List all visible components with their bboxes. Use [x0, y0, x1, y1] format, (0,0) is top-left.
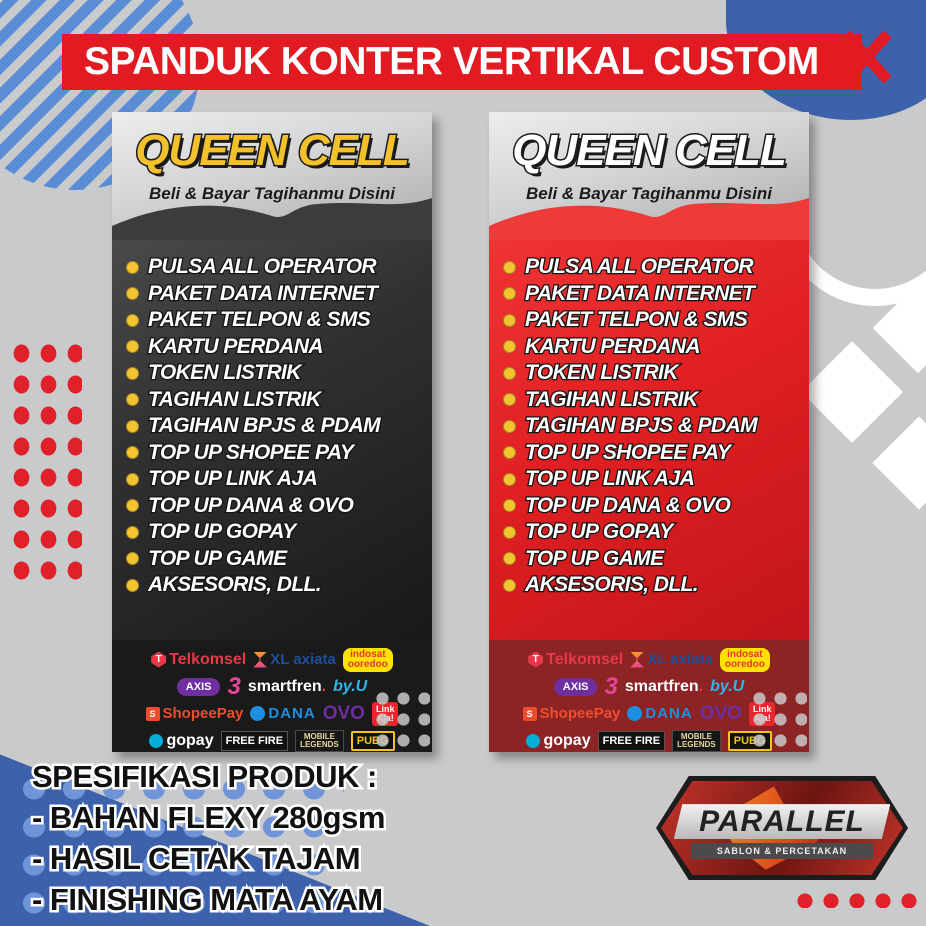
- service-list-item-label: TOKEN LISTRIK: [148, 361, 301, 385]
- service-list-item-label: PAKET DATA INTERNET: [525, 282, 754, 306]
- xl-mark-icon: [630, 652, 644, 668]
- service-list-item-label: PAKET TELPON & SMS: [148, 308, 370, 332]
- telkomsel-mark-icon: T: [151, 652, 166, 668]
- banner-wave-divider: [112, 196, 432, 242]
- bullet-icon: [503, 446, 516, 459]
- telkomsel-logo: TTelkomsel: [151, 651, 246, 669]
- watermark-subtitle: SABLON & PERCETAKAN: [717, 846, 847, 856]
- service-list-item-label: TOP UP LINK AJA: [148, 467, 317, 491]
- service-list-item: TAGIHAN BPJS & PDAM: [503, 413, 809, 440]
- operator-logo-row-1: TTelkomsel XL axiata indosatooredoo: [120, 646, 424, 673]
- bullet-icon: [126, 420, 139, 433]
- service-list-item: TOP UP GOPAY: [126, 519, 432, 546]
- gopay-mark-icon: [149, 734, 163, 748]
- dana-mark-icon: [627, 706, 642, 721]
- red-dot-row-decoration: [792, 888, 922, 908]
- xl-mark-icon: [253, 652, 267, 668]
- shopeepay-logo: SShopeePay: [146, 705, 244, 722]
- service-list-item: TOP UP LINK AJA: [126, 466, 432, 493]
- white-diamond-decoration: [872, 416, 926, 509]
- banner-header-red: QUEEN CELL Beli & Bayar Tagihanmu Disini: [489, 112, 809, 240]
- service-list-item: TOP UP GAME: [126, 546, 432, 573]
- bullet-icon: [126, 393, 139, 406]
- service-list-item-label: PAKET DATA INTERNET: [148, 282, 377, 306]
- bullet-icon: [503, 552, 516, 565]
- service-list-item-label: AKSESORIS, DLL.: [148, 573, 321, 597]
- service-list-item: TAGIHAN LISTRIK: [126, 387, 432, 414]
- bullet-icon: [126, 446, 139, 459]
- banner-service-list-red: PULSA ALL OPERATORPAKET DATA INTERNETPAK…: [489, 240, 809, 640]
- service-list-item: PAKET TELPON & SMS: [126, 307, 432, 334]
- tri-logo: 3: [604, 673, 617, 701]
- bullet-icon: [126, 287, 139, 300]
- bullet-icon: [126, 473, 139, 486]
- ovo-logo: OVO: [323, 703, 365, 725]
- byu-logo: by.U: [710, 678, 744, 696]
- gopay-logo: gopay: [149, 732, 213, 750]
- bullet-icon: [126, 314, 139, 327]
- free-fire-logo: FREE FIRE: [598, 731, 665, 751]
- banner-wave-divider: [489, 196, 809, 242]
- service-list-item: PULSA ALL OPERATOR: [126, 254, 432, 281]
- dana-logo: DANA: [627, 705, 692, 722]
- telkomsel-mark-icon: T: [528, 652, 543, 668]
- gopay-mark-icon: [526, 734, 540, 748]
- ovo-logo: OVO: [700, 703, 742, 725]
- banner-brand-red: QUEEN CELL: [489, 126, 809, 176]
- white-diamond-decoration: [873, 283, 926, 374]
- bullet-icon: [503, 473, 516, 486]
- bullet-icon: [126, 499, 139, 512]
- service-list-item: TOP UP DANA & OVO: [126, 493, 432, 520]
- service-list-item: TOP UP LINK AJA: [503, 466, 809, 493]
- indosat-ooredoo-logo: indosatooredoo: [720, 648, 770, 672]
- spec-item: - BAHAN FLEXY 280gsm: [32, 797, 502, 838]
- gopay-logo: gopay: [526, 732, 590, 750]
- service-list-item: AKSESORIS, DLL.: [126, 572, 432, 599]
- white-diamond-decoration: [801, 341, 903, 443]
- service-list-item: PAKET TELPON & SMS: [503, 307, 809, 334]
- service-list-item-label: TOP UP LINK AJA: [525, 467, 694, 491]
- watermark-name: PARALLEL: [699, 805, 865, 839]
- bullet-icon: [503, 579, 516, 592]
- service-list-item-label: TAGIHAN LISTRIK: [525, 388, 698, 412]
- indosat-ooredoo-logo: indosatooredoo: [343, 648, 393, 672]
- smartfren-logo: smartfren.: [248, 678, 326, 696]
- dana-logo: DANA: [250, 705, 315, 722]
- shopeepay-logo: SShopeePay: [523, 705, 621, 722]
- service-list-item: TOP UP GOPAY: [503, 519, 809, 546]
- xl-axiata-logo: XL axiata: [630, 651, 713, 668]
- logo-dot-pattern: [372, 688, 430, 750]
- poster-canvas: SPANDUK KONTER VERTIKAL CUSTOM QUEEN CEL…: [0, 0, 926, 926]
- byu-logo: by.U: [333, 678, 367, 696]
- poster-title-bar: SPANDUK KONTER VERTIKAL CUSTOM: [62, 34, 862, 90]
- spec-heading: SPESIFIKASI PRODUK :: [32, 756, 502, 797]
- page-title: SPANDUK KONTER VERTIKAL CUSTOM: [84, 40, 819, 84]
- shopeepay-mark-icon: S: [523, 707, 537, 721]
- service-list-item: TOKEN LISTRIK: [126, 360, 432, 387]
- bullet-icon: [126, 340, 139, 353]
- service-list-item: TOKEN LISTRIK: [503, 360, 809, 387]
- service-list-item: PAKET DATA INTERNET: [126, 281, 432, 308]
- telkomsel-logo: TTelkomsel: [528, 651, 623, 669]
- service-list-item-label: KARTU PERDANA: [525, 335, 700, 359]
- banner-preview-dark[interactable]: QUEEN CELL Beli & Bayar Tagihanmu Disini…: [112, 112, 432, 752]
- bullet-icon: [126, 552, 139, 565]
- service-list-item: TOP UP SHOPEE PAY: [126, 440, 432, 467]
- bullet-icon: [503, 420, 516, 433]
- service-list-item: TAGIHAN BPJS & PDAM: [126, 413, 432, 440]
- service-list-item: AKSESORIS, DLL.: [503, 572, 809, 599]
- service-list-item-label: TOKEN LISTRIK: [525, 361, 678, 385]
- service-list-item-label: TOP UP GOPAY: [525, 520, 673, 544]
- service-list-item-label: PAKET TELPON & SMS: [525, 308, 747, 332]
- service-list-item: TAGIHAN LISTRIK: [503, 387, 809, 414]
- xl-axiata-logo: XL axiata: [253, 651, 336, 668]
- mobile-legends-logo: MOBILELEGENDS: [672, 730, 721, 752]
- service-list-item-label: PULSA ALL OPERATOR: [148, 255, 376, 279]
- bullet-icon: [503, 499, 516, 512]
- free-fire-logo: FREE FIRE: [221, 731, 288, 751]
- dana-mark-icon: [250, 706, 265, 721]
- bullet-icon: [503, 526, 516, 539]
- banner-logos-red: TTelkomsel XL axiata indosatooredoo AXIS…: [489, 640, 809, 752]
- service-list-item-label: TOP UP DANA & OVO: [525, 494, 730, 518]
- service-list-item-label: TAGIHAN LISTRIK: [148, 388, 321, 412]
- shopeepay-mark-icon: S: [146, 707, 160, 721]
- service-list-item: PULSA ALL OPERATOR: [503, 254, 809, 281]
- spec-item: - HASIL CETAK TAJAM: [32, 838, 502, 879]
- bullet-icon: [503, 367, 516, 380]
- bullet-icon: [503, 287, 516, 300]
- banner-service-list-dark: PULSA ALL OPERATORPAKET DATA INTERNETPAK…: [112, 240, 432, 640]
- service-list-item-label: TOP UP DANA & OVO: [148, 494, 353, 518]
- service-list-item: TOP UP GAME: [503, 546, 809, 573]
- banner-header-dark: QUEEN CELL Beli & Bayar Tagihanmu Disini: [112, 112, 432, 240]
- logo-name-bar: PARALLEL: [674, 804, 891, 839]
- service-list-item-label: PULSA ALL OPERATOR: [525, 255, 753, 279]
- banner-logos-dark: TTelkomsel XL axiata indosatooredoo AXIS…: [112, 640, 432, 752]
- smartfren-logo: smartfren.: [625, 678, 703, 696]
- tri-logo: 3: [227, 673, 240, 701]
- mobile-legends-logo: MOBILELEGENDS: [295, 730, 344, 752]
- service-list-item-label: TOP UP GOPAY: [148, 520, 296, 544]
- bullet-icon: [126, 261, 139, 274]
- service-list-item-label: TOP UP GAME: [525, 547, 663, 571]
- operator-logo-row-1: TTelkomsel XL axiata indosatooredoo: [497, 646, 801, 673]
- banner-brand-dark: QUEEN CELL: [112, 126, 432, 176]
- product-specifications: SPESIFIKASI PRODUK : - BAHAN FLEXY 280gs…: [32, 756, 502, 920]
- bullet-icon: [126, 526, 139, 539]
- parallel-watermark-logo: PARALLEL SABLON & PERCETAKAN: [656, 776, 908, 880]
- banner-preview-red[interactable]: QUEEN CELL Beli & Bayar Tagihanmu Disini…: [489, 112, 809, 752]
- service-list-item-label: TAGIHAN BPJS & PDAM: [525, 414, 757, 438]
- bullet-icon: [503, 314, 516, 327]
- service-list-item-label: TOP UP GAME: [148, 547, 286, 571]
- bullet-icon: [503, 261, 516, 274]
- bullet-icon: [126, 579, 139, 592]
- bullet-icon: [126, 367, 139, 380]
- red-dot-grid-decoration: [8, 338, 82, 590]
- axis-logo: AXIS: [554, 678, 598, 696]
- axis-logo: AXIS: [177, 678, 221, 696]
- service-list-item: PAKET DATA INTERNET: [503, 281, 809, 308]
- service-list-item-label: TAGIHAN BPJS & PDAM: [148, 414, 380, 438]
- service-list-item-label: TOP UP SHOPEE PAY: [148, 441, 353, 465]
- service-list-item: KARTU PERDANA: [126, 334, 432, 361]
- service-list-item: TOP UP SHOPEE PAY: [503, 440, 809, 467]
- service-list-item: KARTU PERDANA: [503, 334, 809, 361]
- service-list-item: TOP UP DANA & OVO: [503, 493, 809, 520]
- logo-dot-pattern: [749, 688, 807, 750]
- bullet-icon: [503, 340, 516, 353]
- service-list-item-label: KARTU PERDANA: [148, 335, 323, 359]
- bullet-icon: [503, 393, 516, 406]
- spec-item: - FINISHING MATA AYAM: [32, 879, 502, 920]
- logo-subtitle-bar: SABLON & PERCETAKAN: [691, 843, 872, 860]
- service-list-item-label: TOP UP SHOPEE PAY: [525, 441, 730, 465]
- service-list-item-label: AKSESORIS, DLL.: [525, 573, 698, 597]
